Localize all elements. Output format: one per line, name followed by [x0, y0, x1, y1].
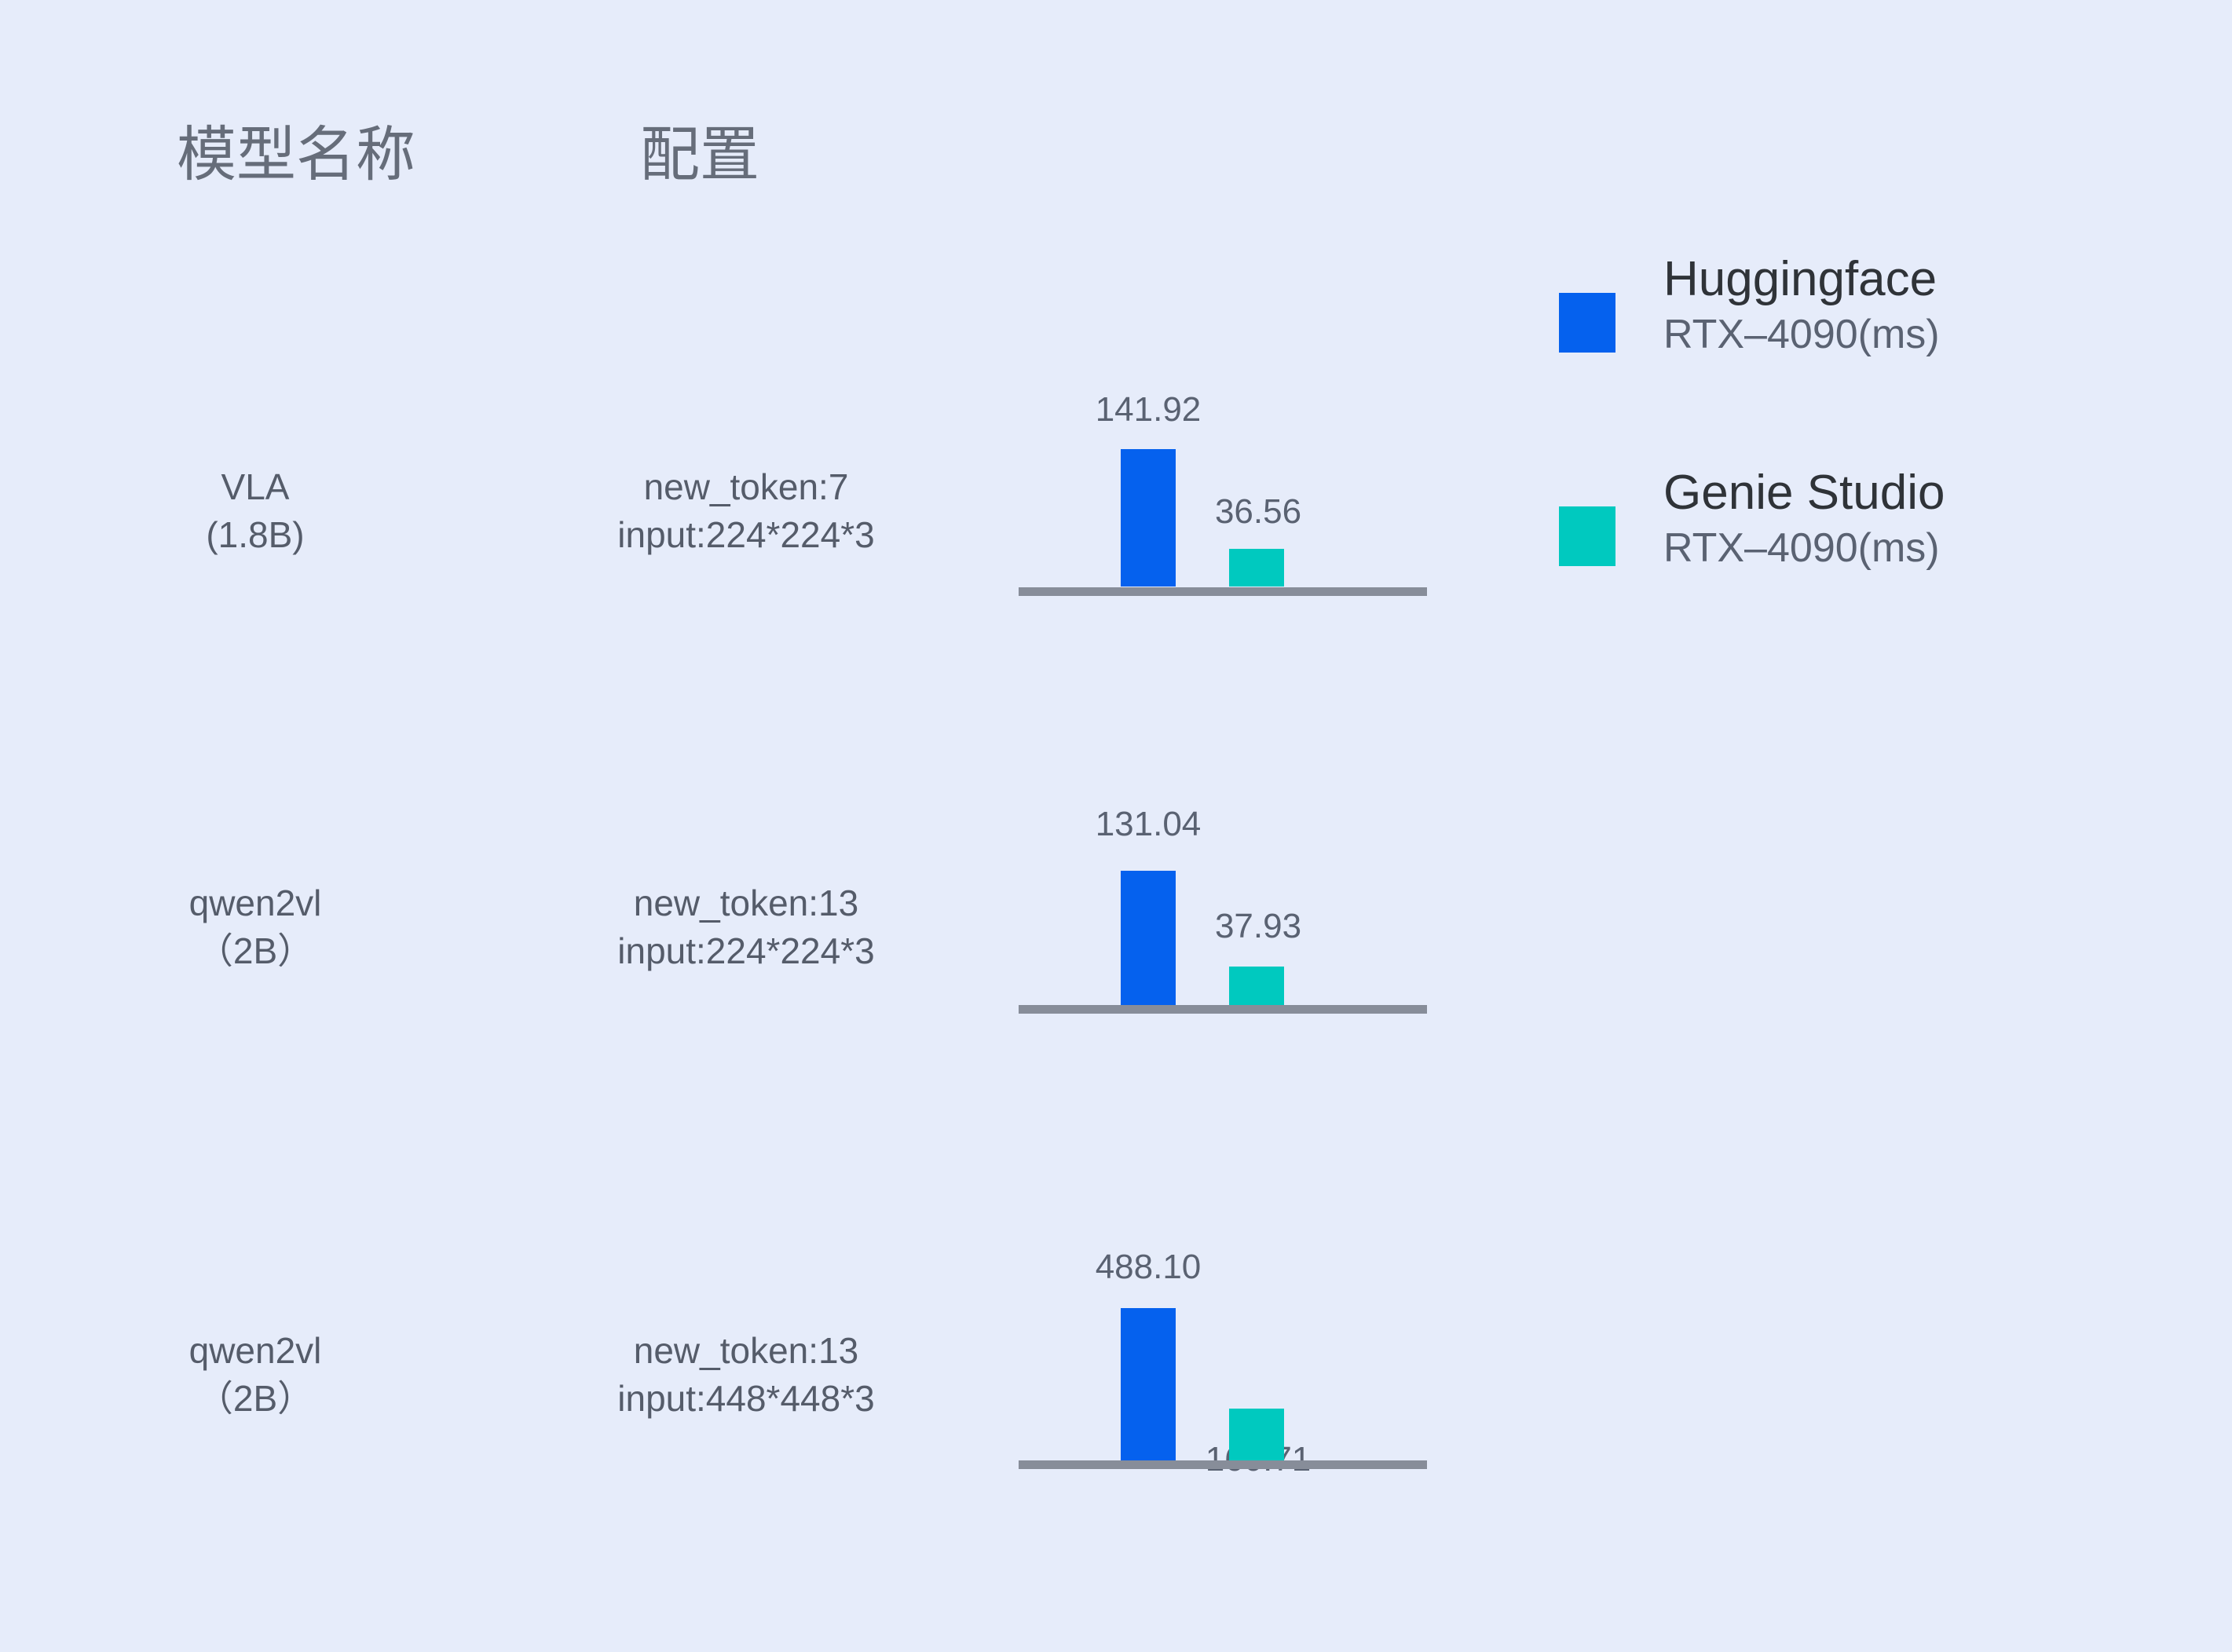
- row-model-name: qwen2vl （2B）: [157, 879, 353, 975]
- row-config: new_token:13 input:224*224*3: [495, 879, 997, 975]
- row-model-name-line1: qwen2vl: [189, 1330, 322, 1371]
- row-baseline: [1019, 587, 1427, 596]
- bar-huggingface[interactable]: [1121, 871, 1176, 1006]
- row-config-line2: input:224*224*3: [495, 927, 997, 975]
- chart-page: 模型名称 配置 VLA (1.8B) new_token:7 input:224…: [0, 0, 2232, 1652]
- bar-genie-studio[interactable]: [1229, 1409, 1284, 1460]
- row-model-name-line2: (1.8B): [157, 511, 353, 559]
- legend-square-icon: [1559, 506, 1615, 566]
- bar-huggingface[interactable]: [1121, 449, 1176, 587]
- row-model-name-line1: VLA: [221, 466, 290, 507]
- row-config-line1: new_token:7: [644, 466, 849, 507]
- row-baseline: [1019, 1005, 1427, 1014]
- bar-layer: [1019, 440, 1427, 596]
- chart-row: qwen2vl （2B） new_token:13 input:448*448*…: [0, 1099, 2232, 1476]
- row-plot: 131.04 37.93: [1019, 683, 1427, 1013]
- row-config-line2: input:224*224*3: [495, 511, 997, 559]
- bar-huggingface[interactable]: [1121, 1308, 1176, 1465]
- legend-item-genie-studio[interactable]: Genie Studio RTX–4090(ms): [1559, 465, 2156, 622]
- bar-value-huggingface: 141.92: [1054, 393, 1242, 427]
- legend-title: Genie Studio: [1663, 465, 2150, 521]
- bar-value-huggingface: 488.10: [1054, 1250, 1242, 1285]
- row-model-name: qwen2vl （2B）: [157, 1327, 353, 1423]
- bar-genie-studio[interactable]: [1229, 549, 1284, 587]
- row-plot: 488.10 160.71: [1019, 1099, 1427, 1468]
- row-config: new_token:13 input:448*448*3: [495, 1327, 997, 1423]
- row-model-name-line1: qwen2vl: [189, 883, 322, 923]
- row-config-line1: new_token:13: [634, 1330, 858, 1371]
- legend-title: Huggingface: [1663, 251, 2150, 307]
- row-config-line1: new_token:13: [634, 883, 858, 923]
- legend-subtitle: RTX–4090(ms): [1663, 307, 2150, 362]
- bar-layer: [1019, 1303, 1427, 1468]
- chart-row: qwen2vl （2B） new_token:13 input:224*224*…: [0, 683, 2232, 1029]
- chart-rows: VLA (1.8B) new_token:7 input:224*224*3 1…: [0, 0, 2232, 1652]
- row-config: new_token:7 input:224*224*3: [495, 463, 997, 559]
- row-model-name-line2: （2B）: [157, 927, 353, 975]
- row-model-name: VLA (1.8B): [157, 463, 353, 559]
- legend-text-block: Genie Studio RTX–4090(ms): [1663, 465, 2150, 576]
- legend-text-block: Huggingface RTX–4090(ms): [1663, 251, 2150, 362]
- legend-subtitle: RTX–4090(ms): [1663, 521, 2150, 576]
- bar-value-huggingface: 131.04: [1054, 807, 1242, 842]
- bar-genie-studio[interactable]: [1229, 967, 1284, 1006]
- legend-square-icon: [1559, 293, 1615, 353]
- row-baseline: [1019, 1460, 1427, 1469]
- row-model-name-line2: （2B）: [157, 1375, 353, 1423]
- bar-layer: [1019, 863, 1427, 1014]
- row-config-line2: input:448*448*3: [495, 1375, 997, 1423]
- legend-item-huggingface[interactable]: Huggingface RTX–4090(ms): [1559, 251, 2156, 408]
- row-plot: 141.92 36.56: [1019, 259, 1427, 597]
